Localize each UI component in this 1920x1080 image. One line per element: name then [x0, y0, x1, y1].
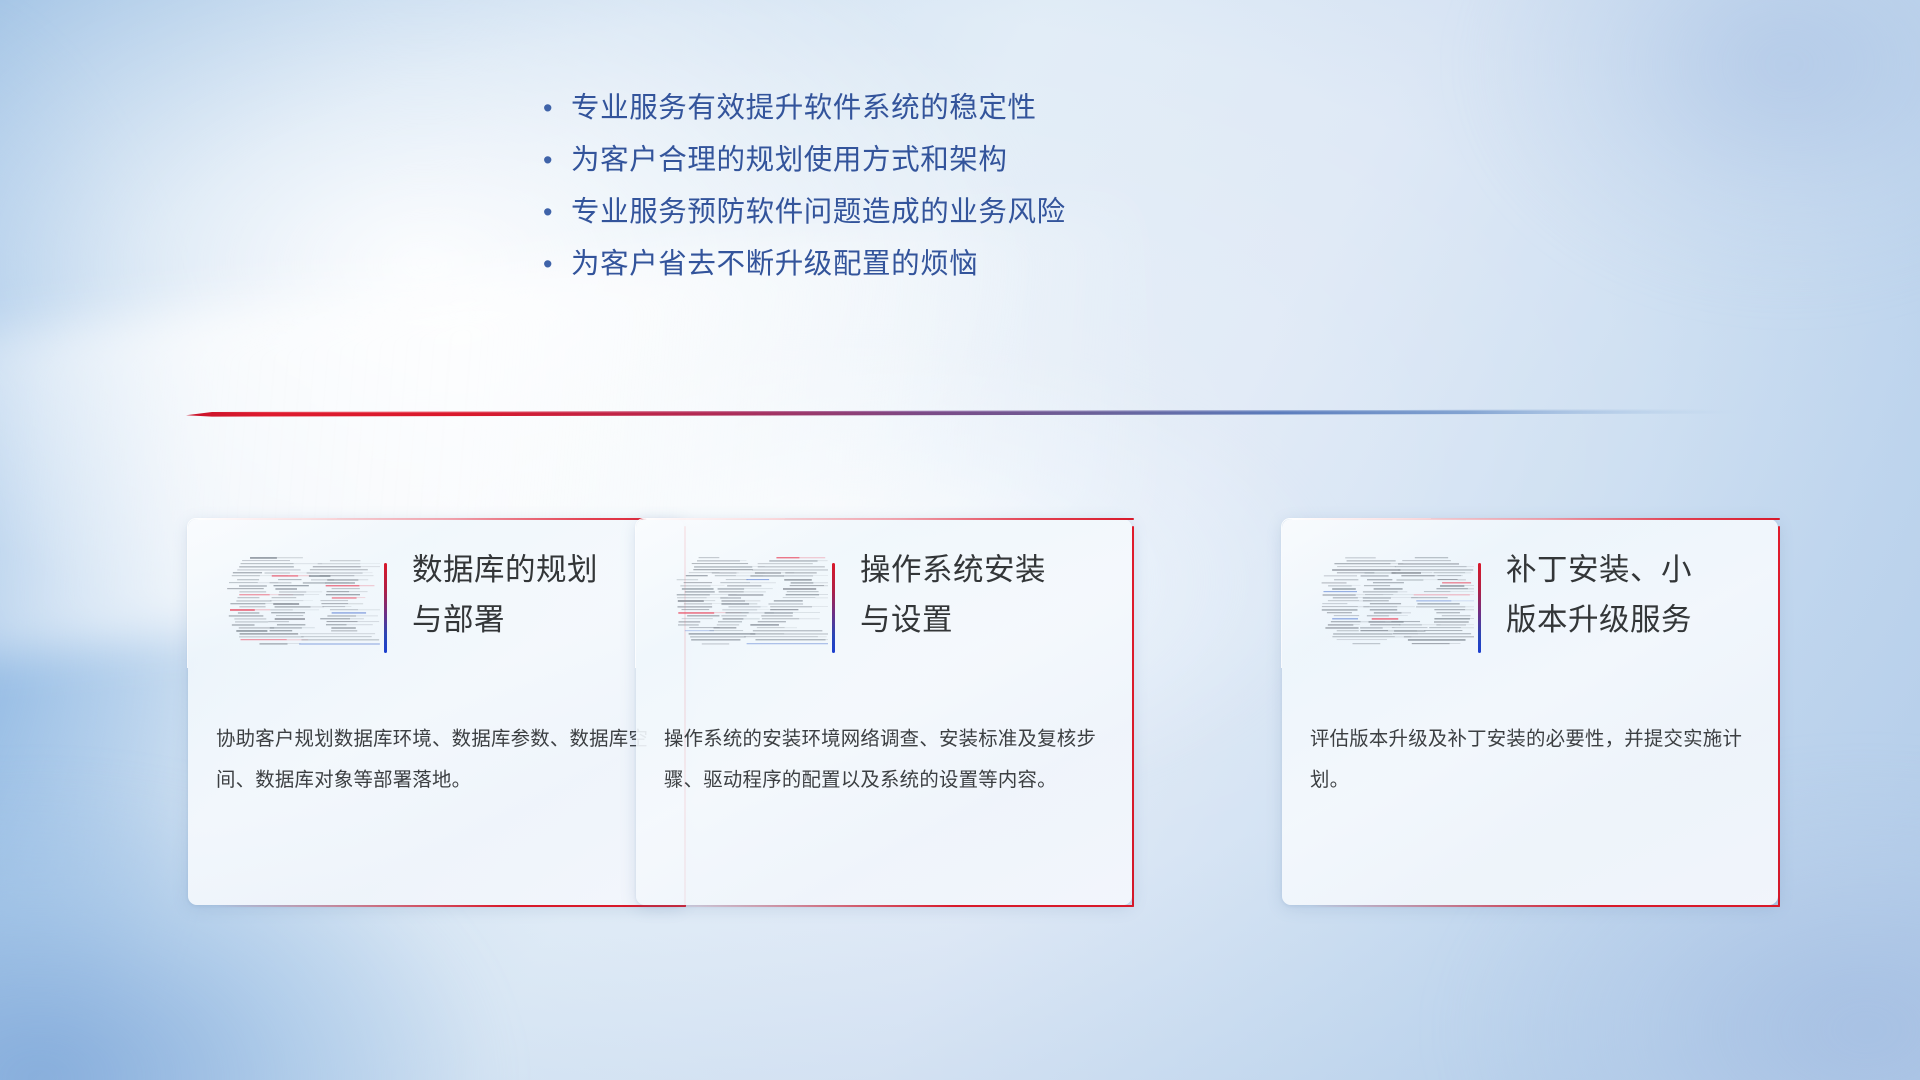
service-card[interactable]: 操作系统安装 与设置 操作系统的安装环境网络调查、安装标准及复核步骤、驱动程序的… [636, 519, 1132, 905]
section-divider [186, 404, 1746, 426]
service-card[interactable]: 数据库的规划 与部署 协助客户规划数据库环境、数据库参数、数据库空间、数据库对象… [188, 519, 684, 905]
card-title-line: 与设置 [860, 595, 1108, 645]
bullet-dot-icon: • [537, 84, 571, 132]
card-description: 评估版本升级及补丁安装的必要性，并提交实施计划。 [1310, 719, 1752, 801]
card-header: 补丁安装、小 版本升级服务 [1282, 519, 1778, 737]
bullet-label: 专业服务预防软件问题造成的业务风险 [571, 188, 1066, 236]
card-bottom-accent [216, 905, 686, 907]
card-title: 补丁安装、小 版本升级服务 [1506, 545, 1754, 645]
card-header: 操作系统安装 与设置 [636, 519, 1132, 737]
card-divider-bar [1478, 563, 1481, 653]
bullet-dot-icon: • [537, 188, 571, 236]
bullet-label: 为客户省去不断升级配置的烦恼 [571, 240, 978, 288]
card-bottom-accent [1310, 905, 1780, 907]
card-title-line: 版本升级服务 [1506, 595, 1754, 645]
card-number-glitch-icon [212, 544, 380, 672]
card-title-line: 补丁安装、小 [1506, 545, 1754, 595]
bullet-label: 为客户合理的规划使用方式和架构 [571, 136, 1008, 184]
card-title-line: 数据库的规划 [412, 545, 660, 595]
benefits-bullet-list: • 专业服务有效提升软件系统的稳定性 • 为客户合理的规划使用方式和架构 • 专… [537, 84, 1357, 292]
card-divider-bar [832, 563, 835, 653]
bullet-dot-icon: • [537, 136, 571, 184]
card-bottom-accent [664, 905, 1134, 907]
list-item: • 为客户省去不断升级配置的烦恼 [537, 240, 1357, 292]
service-card-row: 数据库的规划 与部署 协助客户规划数据库环境、数据库参数、数据库空间、数据库对象… [0, 519, 1920, 911]
card-description: 协助客户规划数据库环境、数据库参数、数据库空间、数据库对象等部署落地。 [216, 719, 658, 801]
service-card[interactable]: 补丁安装、小 版本升级服务 评估版本升级及补丁安装的必要性，并提交实施计划。 [1282, 519, 1778, 905]
card-description: 操作系统的安装环境网络调查、安装标准及复核步骤、驱动程序的配置以及系统的设置等内… [664, 719, 1106, 801]
card-title: 数据库的规划 与部署 [412, 545, 660, 645]
list-item: • 专业服务预防软件问题造成的业务风险 [537, 188, 1357, 240]
list-item: • 专业服务有效提升软件系统的稳定性 [537, 84, 1357, 136]
bullet-dot-icon: • [537, 240, 571, 288]
card-divider-bar [384, 563, 387, 653]
card-header: 数据库的规划 与部署 [188, 519, 684, 737]
card-title-line: 与部署 [412, 595, 660, 645]
bullet-label: 专业服务有效提升软件系统的稳定性 [571, 84, 1037, 132]
list-item: • 为客户合理的规划使用方式和架构 [537, 136, 1357, 188]
card-title-line: 操作系统安装 [860, 545, 1108, 595]
card-number-glitch-icon [660, 544, 828, 672]
card-title: 操作系统安装 与设置 [860, 545, 1108, 645]
card-number-glitch-icon [1306, 544, 1474, 672]
